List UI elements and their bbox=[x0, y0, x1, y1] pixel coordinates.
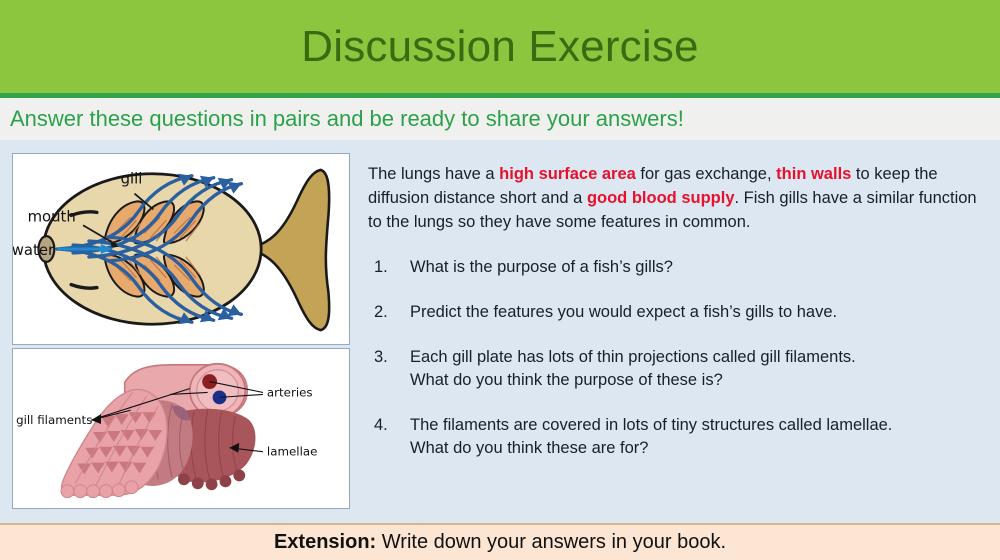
question-item: 3. Each gill plate has lots of thin proj… bbox=[368, 346, 982, 392]
intro-highlight-3: good blood supply bbox=[587, 189, 735, 207]
gill-label-filaments: gill filaments bbox=[16, 413, 92, 427]
main-content: gill mouth water bbox=[0, 140, 1000, 522]
extension-body: Write down your answers in your book. bbox=[376, 531, 726, 553]
fish-diagram-panel: gill mouth water bbox=[12, 153, 350, 345]
page-title: Discussion Exercise bbox=[301, 22, 698, 72]
footer-bar: Extension: Write down your answers in yo… bbox=[0, 523, 1000, 560]
fish-label-mouth: mouth bbox=[28, 208, 76, 225]
text-column: The lungs have a high surface area for g… bbox=[368, 162, 982, 460]
question-item: 1. What is the purpose of a fish’s gills… bbox=[368, 256, 982, 279]
intro-part1: The lungs have a bbox=[368, 165, 499, 183]
extension-label: Extension: bbox=[274, 531, 376, 553]
subtitle-text: Answer these questions in pairs and be r… bbox=[0, 106, 684, 132]
gill-label-arteries: arteries bbox=[267, 385, 313, 399]
title-bar: Discussion Exercise bbox=[0, 0, 1000, 96]
question-list: 1. What is the purpose of a fish’s gills… bbox=[368, 256, 982, 460]
question-item: 2. Predict the features you would expect… bbox=[368, 301, 982, 324]
fish-label-water: water bbox=[13, 242, 55, 259]
extension-text: Extension: Write down your answers in yo… bbox=[274, 531, 726, 554]
question-line-1: What is the purpose of a fish’s gills? bbox=[410, 258, 673, 276]
question-line-1: Each gill plate has lots of thin project… bbox=[410, 348, 856, 366]
intro-part2: for gas exchange, bbox=[636, 165, 776, 183]
artery-red-circle bbox=[202, 374, 217, 389]
question-number: 4. bbox=[374, 414, 402, 437]
question-line-1: Predict the features you would expect a … bbox=[410, 303, 837, 321]
intro-highlight-1: high surface area bbox=[499, 165, 636, 183]
gill-structure-panel: gill filaments arteries lamellae bbox=[12, 348, 350, 509]
gill-label-lamellae: lamellae bbox=[267, 445, 318, 459]
gill-filament-lamellae-diagram: gill filaments arteries lamellae bbox=[13, 349, 349, 508]
question-number: 3. bbox=[374, 346, 402, 369]
fish-gill-water-flow-diagram: gill mouth water bbox=[13, 154, 349, 344]
question-item: 4. The filaments are covered in lots of … bbox=[368, 414, 982, 460]
fish-label-gill: gill bbox=[121, 171, 143, 188]
question-number: 2. bbox=[374, 301, 402, 324]
slide: Discussion Exercise Answer these questio… bbox=[0, 0, 1000, 558]
subtitle-bar: Answer these questions in pairs and be r… bbox=[0, 96, 1000, 142]
intro-paragraph: The lungs have a high surface area for g… bbox=[368, 162, 982, 234]
question-number: 1. bbox=[374, 256, 402, 279]
question-line-2: What do you think these are for? bbox=[410, 437, 982, 460]
question-line-2: What do you think the purpose of these i… bbox=[410, 369, 982, 392]
intro-highlight-2: thin walls bbox=[776, 165, 851, 183]
question-line-1: The filaments are covered in lots of tin… bbox=[410, 416, 892, 434]
